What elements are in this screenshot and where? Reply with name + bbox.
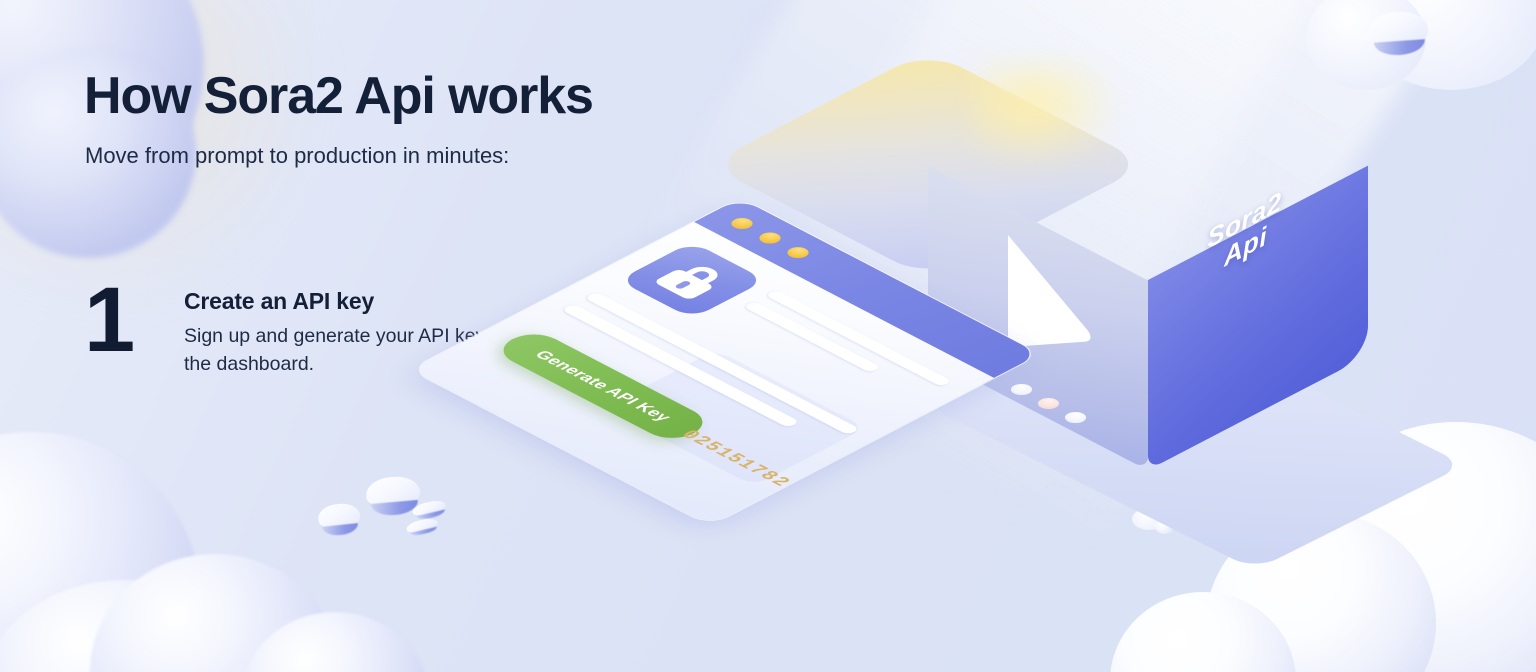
hero-illustration: Sora2 Api xyxy=(700,40,1400,640)
step-number: 1 xyxy=(84,278,184,363)
page-title: How Sora2 Api works xyxy=(84,68,593,124)
lock-icon xyxy=(651,259,733,302)
page-subtitle: Move from prompt to production in minute… xyxy=(85,143,509,169)
traffic-light-dot-2[interactable] xyxy=(756,230,786,246)
cube-highlight-glow xyxy=(972,62,1122,172)
traffic-light-dot-1[interactable] xyxy=(728,215,758,231)
traffic-light-dot-3[interactable] xyxy=(784,245,814,261)
step-title: Create an API key xyxy=(184,288,564,315)
